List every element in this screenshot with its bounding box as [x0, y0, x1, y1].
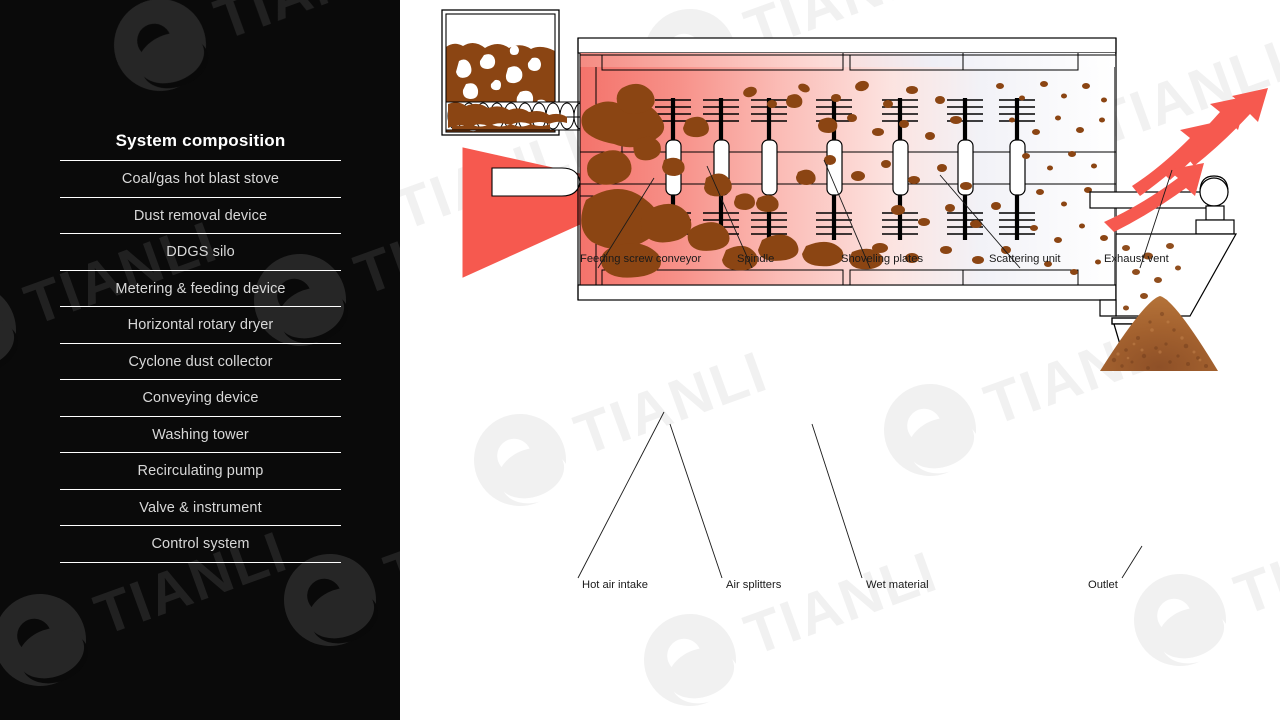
feeding-screw-conveyor-mechanism — [446, 102, 597, 130]
exhaust-air-arrows — [1104, 88, 1268, 232]
sidebar-item-control-system[interactable]: Control system — [60, 525, 341, 563]
label-outlet: Outlet — [1088, 579, 1119, 591]
sidebar-item-washing-tower[interactable]: Washing tower — [60, 416, 341, 453]
sidebar-panel: TIANLI System composition Coal/gas hot b… — [0, 0, 400, 720]
sidebar-item-ddgs-silo[interactable]: DDGS silo — [60, 233, 341, 270]
sidebar-item-cyclone-dust-collector[interactable]: Cyclone dust collector — [60, 343, 341, 380]
screw-drive-pipe — [492, 168, 580, 196]
content-panel: TIANLI Rotary dryer with built-in scatte… — [400, 0, 1280, 720]
sidebar-item-metering-feeding-device[interactable]: Metering & feeding device — [60, 270, 341, 307]
label-air-splitters: Air splitters — [726, 579, 782, 591]
hot-air-inlet-duct — [463, 148, 580, 277]
rotary-dryer-diagram: Feeding screw conveyor Spindle Shoveling… — [400, 0, 1280, 720]
label-scattering-unit: Scattering unit — [989, 253, 1061, 265]
sidebar-item-recirculating-pump[interactable]: Recirculating pump — [60, 452, 341, 489]
label-hot-air-intake: Hot air intake — [582, 579, 648, 591]
drum-interior — [580, 53, 1115, 285]
sidebar-item-dust-removal-device[interactable]: Dust removal device — [60, 197, 341, 234]
sidebar-item-coal-gas-hot-blast-stove[interactable]: Coal/gas hot blast stove — [60, 160, 341, 197]
label-feeding-screw-conveyor: Feeding screw conveyor — [580, 253, 702, 265]
sidebar-item-horizontal-rotary-dryer[interactable]: Horizontal rotary dryer — [60, 306, 341, 343]
system-composition-list: System composition Coal/gas hot blast st… — [60, 131, 341, 563]
diagram-labels: Feeding screw conveyor Spindle Shoveling… — [580, 253, 1170, 591]
label-exhaust-vent: Exhaust vent — [1104, 253, 1170, 265]
slide-root: TIANLI System composition Coal/gas hot b… — [0, 0, 1280, 720]
label-wet-material: Wet material — [866, 579, 929, 591]
sidebar-item-conveying-device[interactable]: Conveying device — [60, 379, 341, 416]
sidebar-item-valve-instrument[interactable]: Valve & instrument — [60, 489, 341, 526]
label-spindle: Spindle — [737, 253, 774, 265]
label-shoveling-plates: Shoveling plates — [841, 253, 924, 265]
sidebar-heading: System composition — [60, 131, 341, 160]
